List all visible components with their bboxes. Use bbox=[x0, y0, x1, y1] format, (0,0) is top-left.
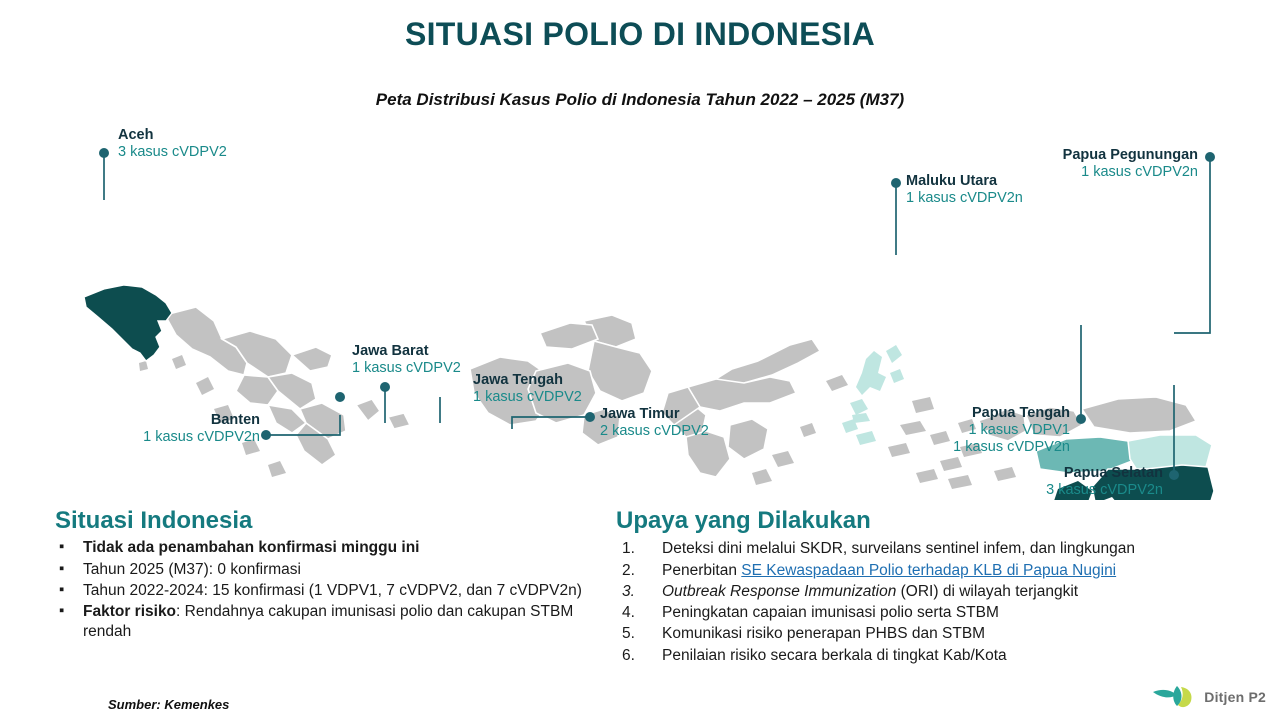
upaya-list-item: Penilaian risiko secara berkala di tingk… bbox=[616, 645, 1246, 666]
callout-case-line: 1 kasus cVDPV2n bbox=[906, 190, 1023, 207]
callout-jawa-tengah: Jawa Tengah 1 kasus cVDPV2 bbox=[473, 372, 582, 406]
callout-jawa-timur: Jawa Timur 2 kasus cVDPV2 bbox=[600, 406, 709, 440]
upaya-list: Deteksi dini melalui SKDR, surveilans se… bbox=[616, 538, 1246, 665]
map-region-sumatra bbox=[139, 307, 410, 477]
callout-papua-tengah: Papua Tengah 1 kasus VDPV1 1 kasus cVDPV… bbox=[900, 405, 1070, 456]
callout-papua-pegunungan: Papua Pegunungan 1 kasus cVDPV2n bbox=[980, 147, 1198, 181]
callout-banten: Banten 1 kasus cVDPV2n bbox=[60, 412, 260, 446]
callout-case-line: 1 kasus cVDPV2n bbox=[900, 439, 1070, 456]
callout-province-name: Banten bbox=[60, 412, 260, 429]
logo-text: Ditjen P2 bbox=[1204, 689, 1266, 705]
dot-jawa-barat bbox=[380, 382, 390, 392]
province-papua-utara bbox=[1082, 397, 1196, 433]
ori-italic-term: Outbreak Response Immunization bbox=[662, 583, 896, 600]
dot-papua-selatan bbox=[1169, 470, 1179, 480]
callout-papua-selatan: Papua Selatan 3 kasus cVDPV2n bbox=[980, 465, 1163, 499]
callout-province-name: Jawa Timur bbox=[600, 406, 709, 423]
ditjen-p2-logo: Ditjen P2 bbox=[1151, 682, 1266, 712]
upaya-list-item: Deteksi dini melalui SKDR, surveilans se… bbox=[616, 538, 1246, 559]
callout-case-line: 1 kasus cVDPV2n bbox=[980, 164, 1198, 181]
bottom-content: Situasi Indonesia Tidak ada penambahan k… bbox=[0, 500, 1280, 720]
dot-aceh bbox=[99, 148, 109, 158]
ori-rest-text: (ORI) di wilayah terjangkit bbox=[896, 583, 1078, 600]
callout-case-line: 3 kasus cVDPV2 bbox=[118, 144, 227, 161]
upaya-item-prefix: Penerbitan bbox=[662, 562, 741, 579]
upaya-list-item: Peningkatan capaian imunisasi polio sert… bbox=[616, 602, 1246, 623]
dot-maluku-utara bbox=[891, 178, 901, 188]
map-container: Aceh 3 kasus cVDPV2 Jawa Barat 1 kasus c… bbox=[0, 125, 1280, 500]
callout-province-name: Papua Pegunungan bbox=[980, 147, 1198, 164]
situasi-indonesia-section: Situasi Indonesia Tidak ada penambahan k… bbox=[55, 508, 585, 643]
leader-papua-pegunungan bbox=[1174, 157, 1210, 333]
dot-papua-pegunungan bbox=[1205, 152, 1215, 162]
callout-case-line: 3 kasus cVDPV2n bbox=[980, 482, 1163, 499]
callout-province-name: Papua Tengah bbox=[900, 405, 1070, 422]
se-kewaspadaan-link[interactable]: SE Kewaspadaan Polio terhadap KLB di Pap… bbox=[741, 562, 1116, 579]
callout-province-name: Papua Selatan bbox=[980, 465, 1163, 482]
callout-case-line: 2 kasus cVDPV2 bbox=[600, 423, 709, 440]
situasi-list-item: Tahun 2022-2024: 15 konfirmasi (1 VDPV1,… bbox=[55, 581, 585, 601]
province-sultra bbox=[728, 419, 768, 459]
map-subtitle: Peta Distribusi Kasus Polio di Indonesia… bbox=[0, 90, 1280, 110]
province-kepri bbox=[292, 347, 332, 371]
dot-jawa-tengah bbox=[335, 392, 345, 402]
callout-province-name: Jawa Tengah bbox=[473, 372, 582, 389]
callout-case-line: 1 kasus cVDPV2 bbox=[352, 360, 461, 377]
callout-jawa-barat: Jawa Barat 1 kasus cVDPV2 bbox=[352, 343, 461, 377]
province-bangka-belitung bbox=[356, 399, 410, 429]
upaya-section: Upaya yang Dilakukan Deteksi dini melalu… bbox=[616, 508, 1246, 666]
callout-case-line: 1 kasus cVDPV2 bbox=[473, 389, 582, 406]
province-kaltim bbox=[588, 341, 652, 401]
dot-papua-tengah bbox=[1076, 414, 1086, 424]
situasi-list-item: Tidak ada penambahan konfirmasi minggu i… bbox=[55, 538, 585, 558]
ditjen-p2-logo-icon bbox=[1151, 682, 1197, 712]
upaya-heading: Upaya yang Dilakukan bbox=[616, 508, 1246, 534]
situasi-list-item: Faktor risiko: Rendahnya cakupan imunisa… bbox=[55, 602, 585, 642]
dot-banten bbox=[261, 430, 271, 440]
page-title: SITUASI POLIO DI INDONESIA bbox=[0, 0, 1280, 53]
callout-case-line: 1 kasus VDPV1 bbox=[900, 422, 1070, 439]
callout-province-name: Jawa Barat bbox=[352, 343, 461, 360]
situasi-heading: Situasi Indonesia bbox=[55, 508, 585, 534]
kalimantan-north-coast bbox=[540, 323, 598, 349]
upaya-list-item: Komunikasi risiko penerapan PHBS dan STB… bbox=[616, 623, 1246, 644]
source-note: Sumber: Kemenkes bbox=[108, 697, 229, 712]
situasi-list: Tidak ada penambahan konfirmasi minggu i… bbox=[55, 538, 585, 642]
province-aceh bbox=[84, 285, 172, 361]
dot-jawa-timur bbox=[585, 412, 595, 422]
risk-factor-label: Faktor risiko bbox=[83, 603, 176, 620]
callout-aceh: Aceh 3 kasus cVDPV2 bbox=[118, 127, 227, 161]
callout-case-line: 1 kasus cVDPV2n bbox=[60, 429, 260, 446]
situasi-list-item: Tahun 2025 (M37): 0 konfirmasi bbox=[55, 560, 585, 580]
upaya-list-item: Penerbitan SE Kewaspadaan Polio terhadap… bbox=[616, 560, 1246, 581]
upaya-list-item: Outbreak Response Immunization (ORI) di … bbox=[616, 581, 1246, 602]
province-maluku-utara bbox=[842, 345, 904, 445]
callout-province-name: Aceh bbox=[118, 127, 227, 144]
